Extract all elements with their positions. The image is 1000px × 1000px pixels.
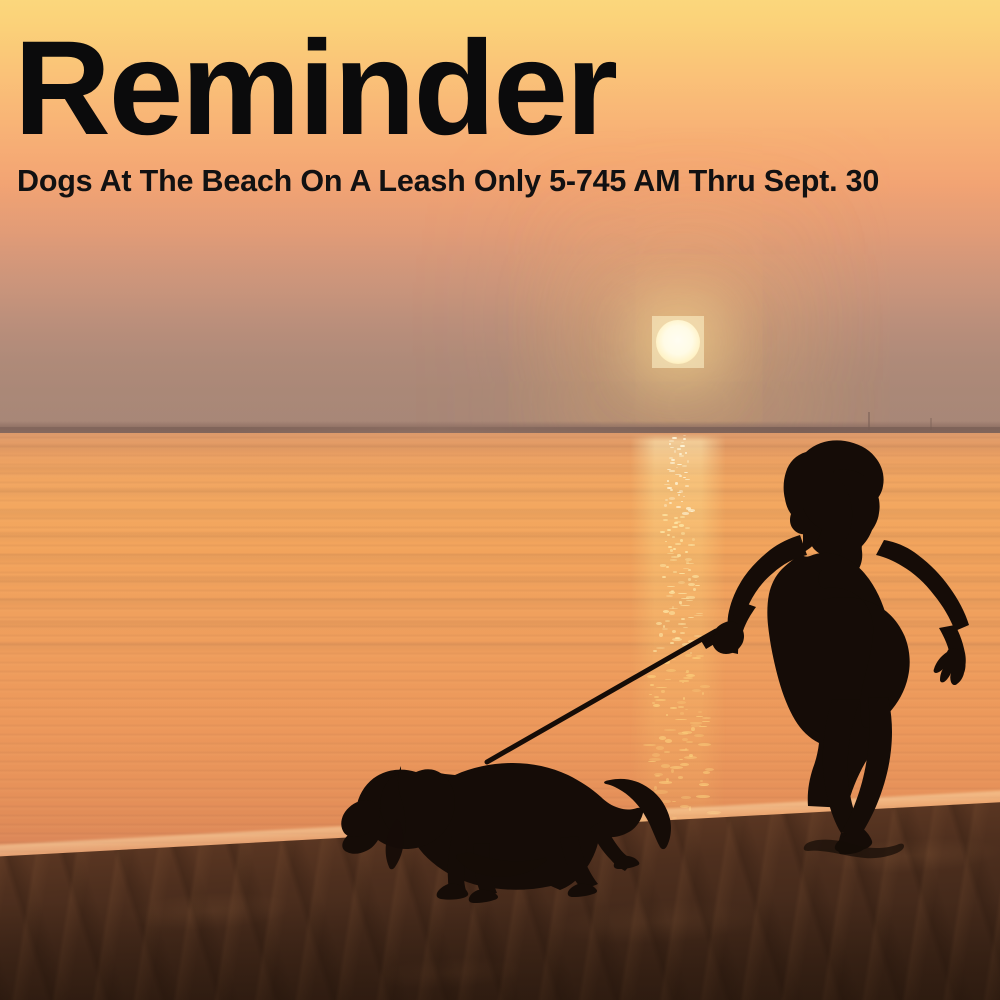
dog-silhouette: [341, 763, 671, 903]
poster-subtitle: Dogs At The Beach On A Leash Only 5-745 …: [17, 166, 879, 197]
leash-line: [487, 631, 716, 762]
page-title: Reminder: [14, 22, 616, 156]
woman-silhouette: [700, 440, 969, 858]
poster-canvas: Reminder Dogs At The Beach On A Leash On…: [0, 0, 1000, 1000]
